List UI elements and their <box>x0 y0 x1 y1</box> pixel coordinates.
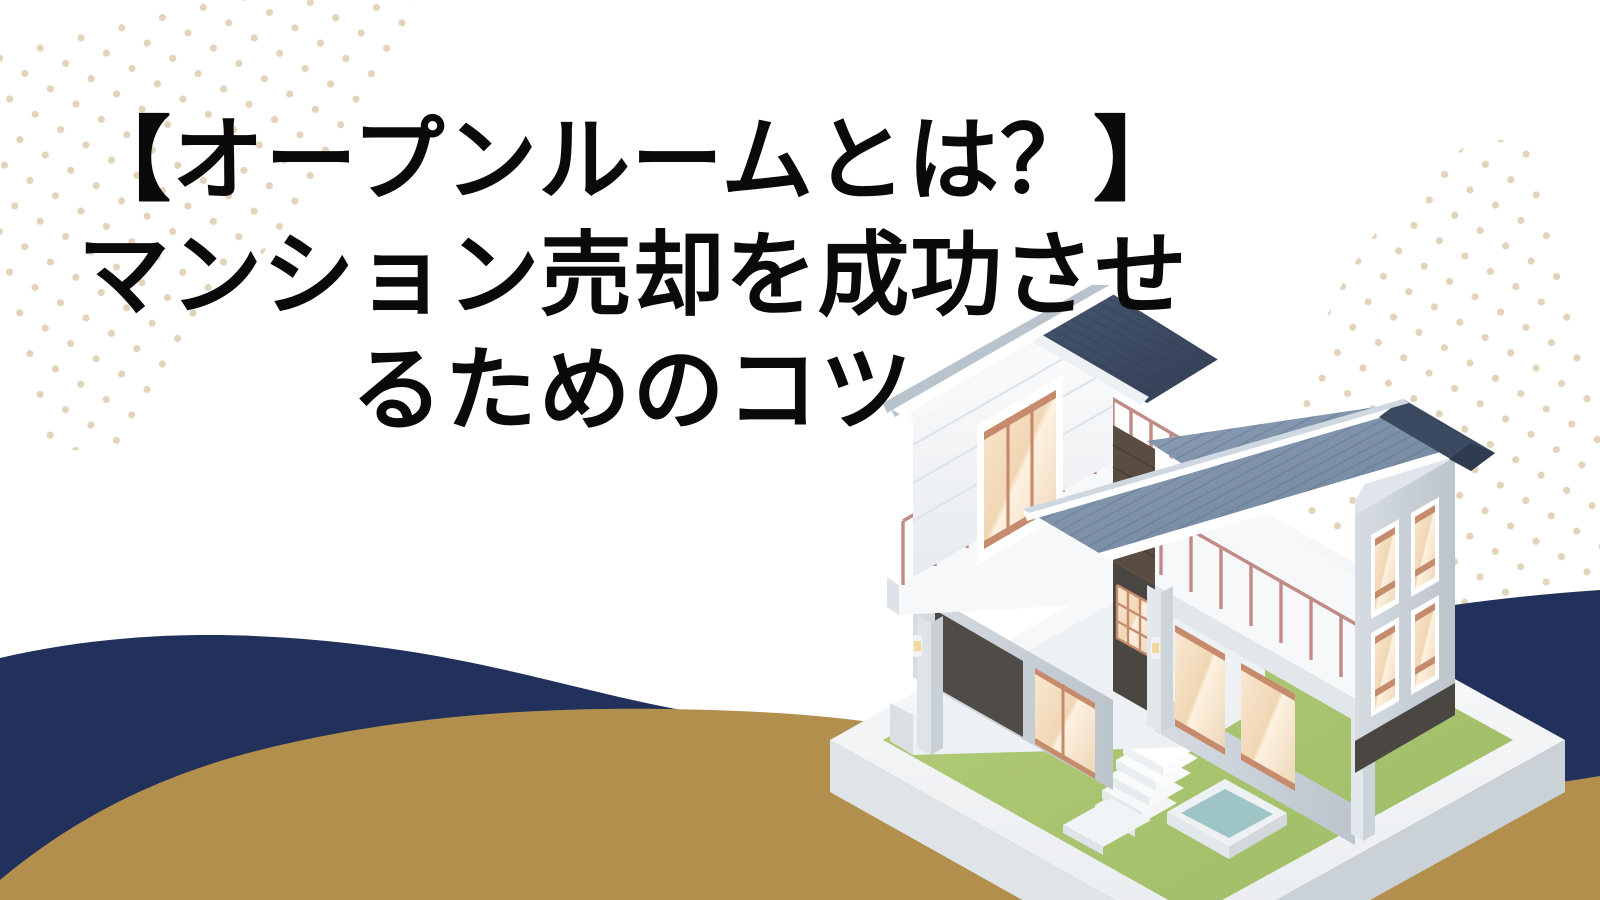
page-title: 【オープンルームとは？】 マンション売却を成功させ るためのコツ <box>0 104 1265 449</box>
title-line-1: 【オープンルームとは？】 <box>0 104 1265 219</box>
title-line-3: るためのコツ <box>0 334 1265 449</box>
banner-canvas: 【オープンルームとは？】 マンション売却を成功させ るためのコツ <box>0 0 1600 900</box>
title-line-2: マンション売却を成功させ <box>0 219 1265 334</box>
